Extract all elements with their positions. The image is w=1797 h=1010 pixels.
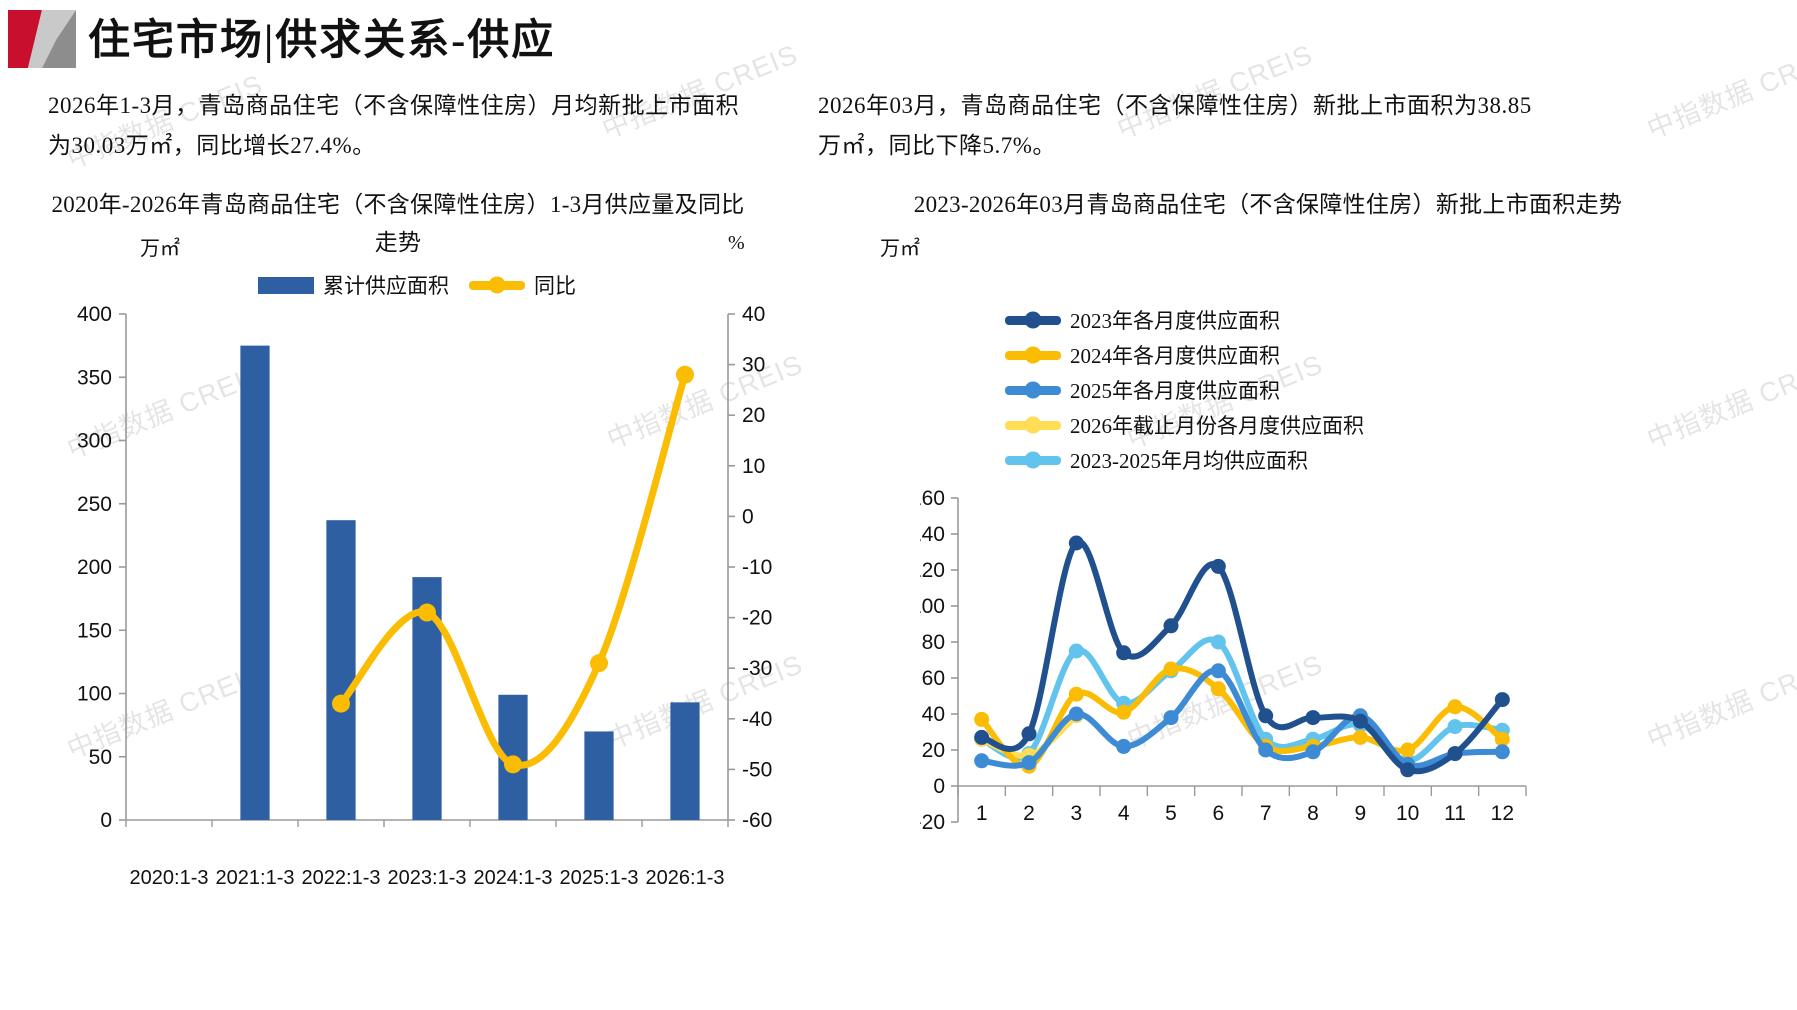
legend-item-label: 2024年各月度供应面积 [1070,340,1280,370]
y-axis-tick-label: 100 [77,683,112,706]
y2-axis-tick-label: -60 [742,809,772,832]
data-point-marker[interactable] [1448,699,1463,714]
legend-line-swatch-icon [1005,386,1061,395]
left-chart-legend: 累计供应面积 同比 [258,265,576,305]
left-chart-y2-unit: % [728,232,745,255]
x-axis-tick-label: 4 [1118,802,1130,825]
right-chart-title: 2023-2026年03月青岛商品住宅（不含保障性住房）新批上市面积走势 [888,186,1648,224]
x-axis-tick-label: 7 [1260,802,1272,825]
x-axis-tick-label: 2022:1-3 [302,867,381,889]
legend-line-swatch-icon [1005,351,1061,360]
data-point-marker[interactable] [590,654,608,672]
x-axis-tick-label: 5 [1165,802,1177,825]
y-axis-tick-label: 350 [77,366,112,389]
data-point-marker[interactable] [974,712,989,727]
data-point-marker[interactable] [1400,743,1415,758]
data-point-marker[interactable] [1116,739,1131,754]
left-chart[interactable]: 050100150200250300350400-60-50-40-30-20-… [48,300,818,860]
data-point-marker[interactable] [1116,645,1131,660]
x-axis-tick-label: 1 [976,802,988,825]
x-axis-tick-label: 3 [1070,802,1082,825]
data-point-marker[interactable] [974,753,989,768]
data-point-marker[interactable] [1211,635,1226,650]
y2-axis-tick-label: -40 [742,708,772,731]
data-point-marker[interactable] [974,730,989,745]
data-point-marker[interactable] [1306,710,1321,725]
data-point-marker[interactable] [1258,708,1273,723]
data-point-marker[interactable] [1116,705,1131,720]
y2-axis-tick-label: 0 [742,505,754,528]
x-axis-tick-label: 8 [1307,802,1319,825]
y-axis-tick-label: 50 [89,746,112,769]
legend-bar-swatch-icon [258,277,314,294]
y-axis-tick-label: -20 [920,811,945,834]
y2-axis-tick-label: -30 [742,657,772,680]
legend-item-2025[interactable]: 2025年各月度供应面积 [1005,375,1364,405]
data-point-marker[interactable] [1258,743,1273,758]
right-chart-y-unit: 万㎡ [880,232,920,261]
data-point-marker[interactable] [1306,744,1321,759]
left-chart-canvas: 050100150200250300350400-60-50-40-30-20-… [48,300,818,860]
y2-axis-tick-label: -10 [742,556,772,579]
data-point-marker[interactable] [1211,559,1226,574]
y-axis-tick-label: 140 [920,523,945,546]
y2-axis-tick-label: 20 [742,404,765,427]
legend-item-2026[interactable]: 2026年截止月份各月度供应面积 [1005,410,1364,440]
y-axis-tick-label: 100 [920,595,945,618]
data-point-marker[interactable] [1069,644,1084,659]
legend-line-swatch-icon [1005,456,1061,465]
data-point-marker[interactable] [332,695,350,713]
x-axis-tick-label: 2020:1-3 [130,867,209,889]
right-chart-canvas: -20020406080100120140160123456789101112 [920,490,1540,870]
bar[interactable] [240,346,269,820]
y-axis-tick-label: 20 [922,739,945,762]
legend-item-avg[interactable]: 2023-2025年月均供应面积 [1005,445,1364,475]
x-axis-tick-label: 2024:1-3 [474,867,553,889]
y-axis-tick-label: 160 [920,490,945,510]
left-chart-xlabels: 2020:1-32021:1-32022:1-32023:1-32024:1-3… [48,858,818,908]
y-axis-tick-label: 250 [77,493,112,516]
x-axis-tick-label: 10 [1396,802,1419,825]
data-point-marker[interactable] [418,604,436,622]
data-point-marker[interactable] [1353,714,1368,729]
x-axis-tick-label: 2023:1-3 [388,867,467,889]
data-point-marker[interactable] [676,366,694,384]
left-chart-y-unit: 万㎡ [140,232,180,261]
x-axis-tick-label: 2026:1-3 [646,867,725,889]
data-point-marker[interactable] [1164,662,1179,677]
y-axis-tick-label: 0 [933,775,945,798]
right-chart[interactable]: -20020406080100120140160123456789101112 [920,490,1540,870]
data-point-marker[interactable] [1211,681,1226,696]
brand-logo-icon [8,10,76,68]
series-line[interactable] [982,639,1503,760]
bar[interactable] [670,702,699,820]
y-axis-tick-label: 40 [922,703,945,726]
data-point-marker[interactable] [1069,536,1084,551]
y-axis-tick-label: 0 [100,809,112,832]
legend-item-label: 2023年各月度供应面积 [1070,305,1280,335]
x-axis-tick-label: 2021:1-3 [216,867,295,889]
bar[interactable] [326,520,355,820]
legend-item-cumulative-supply[interactable]: 累计供应面积 [258,270,449,300]
x-axis-tick-label: 2025:1-3 [560,867,639,889]
legend-item-label: 2026年截止月份各月度供应面积 [1070,410,1364,440]
data-point-marker[interactable] [1495,692,1510,707]
data-point-marker[interactable] [504,755,522,773]
left-lead-text: 2026年1-3月，青岛商品住宅（不含保障性住房）月均新批上市面积为30.03万… [48,86,748,166]
y2-axis-tick-label: 10 [742,455,765,478]
y2-axis-tick-label: -20 [742,607,772,630]
legend-item-2024[interactable]: 2024年各月度供应面积 [1005,340,1364,370]
y-axis-tick-label: 120 [920,559,945,582]
y-axis-tick-label: 300 [77,430,112,453]
page-title: 住宅市场|供求关系-供应 [88,6,555,67]
data-point-marker[interactable] [1164,710,1179,725]
y-axis-tick-label: 400 [77,303,112,326]
legend-item-label: 累计供应面积 [323,270,449,300]
legend-item-label: 同比 [534,270,576,300]
legend-item-label: 2025年各月度供应面积 [1070,375,1280,405]
data-point-marker[interactable] [1211,663,1226,678]
y2-axis-tick-label: 30 [742,354,765,377]
legend-item-2023[interactable]: 2023年各月度供应面积 [1005,305,1364,335]
bar[interactable] [584,731,613,820]
right-lead-text: 2026年03月，青岛商品住宅（不含保障性住房）新批上市面积为38.85万㎡，同… [818,86,1538,166]
data-point-marker[interactable] [1022,726,1037,741]
y-axis-tick-label: 150 [77,619,112,642]
x-axis-tick-label: 9 [1354,802,1366,825]
x-axis-tick-label: 11 [1444,802,1466,825]
right-chart-legend: 2023年各月度供应面积 2024年各月度供应面积 2025年各月度供应面积 2… [1005,300,1364,480]
x-axis-tick-label: 12 [1491,802,1514,825]
data-point-marker[interactable] [1448,719,1463,734]
legend-item-label: 2023-2025年月均供应面积 [1070,445,1308,475]
data-point-marker[interactable] [1164,618,1179,633]
y-axis-tick-label: 80 [922,631,945,654]
data-point-marker[interactable] [1022,755,1037,770]
y2-axis-tick-label: 40 [742,303,765,326]
legend-line-swatch-icon [469,281,525,290]
data-point-marker[interactable] [1400,762,1415,777]
data-point-marker[interactable] [1353,730,1368,745]
y-axis-tick-label: 200 [77,556,112,579]
x-axis-tick-label: 6 [1212,802,1224,825]
page-header: 住宅市场|供求关系-供应 [0,0,1797,82]
legend-line-swatch-icon [1005,316,1061,325]
legend-line-swatch-icon [1005,421,1061,430]
x-axis-tick-label: 2 [1023,802,1035,825]
y-axis-tick-label: 60 [922,667,945,690]
legend-item-yoy[interactable]: 同比 [469,270,576,300]
data-point-marker[interactable] [1448,746,1463,761]
data-point-marker[interactable] [1069,687,1084,702]
y2-axis-tick-label: -50 [742,758,772,781]
data-point-marker[interactable] [1495,744,1510,759]
data-point-marker[interactable] [1069,707,1084,722]
